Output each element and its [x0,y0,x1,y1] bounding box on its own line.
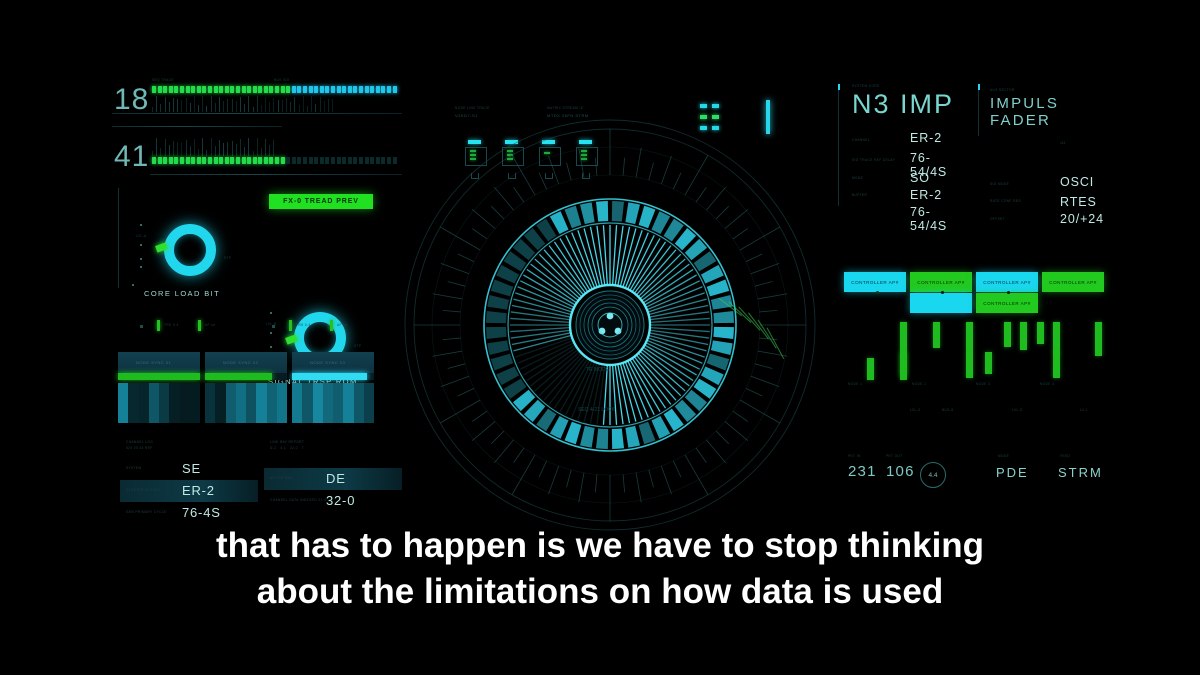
led-segment [174,86,178,93]
tick-mark [165,139,166,156]
led-segment [387,157,391,164]
led-segment [303,86,307,93]
tick-mark [269,145,270,156]
led-segment [292,157,296,164]
led-segment [381,157,385,164]
tick-mark [202,96,203,112]
readout-left: CHANNEL LOG IDX 20 44 REF SYSTEM SE CLUS… [120,438,258,516]
tick-mark [265,139,266,156]
tick-mark [236,144,237,156]
led-segment [337,157,341,164]
status-value-0: 231 [848,463,877,480]
tick-mark [173,141,174,156]
led-segment [337,86,341,93]
led-segment [197,157,201,164]
knob-section: FX-0 TREAD PREV LVL-A STP CORE LOAD BIT [112,188,402,300]
knob-core-load-bit[interactable]: LVL-A STP CORE LOAD BIT [130,214,250,302]
led-segment [309,157,313,164]
tick-mark [253,107,254,112]
led-segment [292,86,296,93]
tick-mark [177,99,178,112]
led-segment [269,157,273,164]
module-n3-imp: SYSTEM CORE N3 IMP CHANNEL ER-2 SIG TRAC… [852,84,954,222]
led-segment [325,157,329,164]
led-segment [353,157,357,164]
spectrum-band [246,383,256,423]
led-segment [169,86,173,93]
led-segment [314,86,318,93]
tick-mark [320,97,321,112]
led-segment [269,86,273,93]
led-segment [186,157,190,164]
led-segment [242,86,246,93]
led-segment [365,157,369,164]
led-segment [219,86,223,93]
led-segment [381,86,385,93]
spectrum-band [226,383,236,423]
led-segment [158,157,162,164]
led-segment [186,86,190,93]
subtitle-block: that has to happen is we have to stop th… [0,523,1200,615]
bar-graph-bar [933,322,940,348]
led-segment [191,157,195,164]
meter-18-ticks [152,96,333,112]
tick-mark [315,104,316,113]
tick-mark [303,96,304,112]
status-bar: PKT IN PKT OUT MODE FEED 231 106 4.4 PDE… [838,460,1118,496]
led-segment [264,157,268,164]
knob-core-load-bit-label: CORE LOAD BIT [144,289,220,298]
led-segment [370,86,374,93]
meter-card-2-bar [205,373,287,380]
readout-left-row-1-label: CLUSTER ACCESS [126,488,160,492]
spectrum-band [139,383,149,423]
led-segment [225,86,229,93]
led-segment [191,86,195,93]
led-segment [359,157,363,164]
led-segment [348,86,352,93]
readout-left-row-2-value: 76-4S [182,505,221,520]
meter-41-leds [152,157,397,164]
tick-mark [223,101,224,112]
led-segment [365,86,369,93]
tick-mark [282,100,283,112]
readout-left-row-2-label: GEN PRIMARY CYCLE [126,510,167,514]
readout-right-row-0-label: ACTIVE BAY [270,476,293,480]
tick-mark [202,138,203,156]
tick-mark [240,97,241,112]
tick-mark [273,140,274,156]
tick-mark [248,96,249,112]
tick-mark [152,151,153,156]
led-segment [353,86,357,93]
spectrum-band [236,383,246,423]
spectrum-band [364,383,374,423]
tick-mark [160,148,161,156]
bar-graph-bar [1037,322,1044,344]
readout-left-row-1-value: ER-2 [182,483,215,498]
spectrum-band [169,383,179,423]
meter-cards: NODE SYNC 01 NODE SYNC 02 NODE SYNC 03 [112,352,402,422]
meter-card-2[interactable]: NODE SYNC 02 [205,352,287,423]
tick-mark [324,101,325,112]
tick-mark [248,138,249,156]
led-segment [281,86,285,93]
bar-graph-bar [867,358,874,380]
led-segment [275,157,279,164]
module-b-title: IMPULS FADER [990,95,1120,129]
led-segment [393,157,397,164]
tick-mark [152,107,153,112]
led-segment [180,157,184,164]
bar-graph-bar [985,352,992,374]
led-segment [281,157,285,164]
bar-graph-bar [900,352,907,376]
tick-mark [244,147,245,156]
module-b-row-2-label: OFFSET [990,217,1005,221]
module-b-row-0-label: SIG MODE [990,182,1009,186]
meter-18: SEQ TRACE BUS IDX 18 [112,80,402,126]
led-segment [309,86,313,93]
tick-mark [186,140,187,156]
meter-41: 41 [112,126,402,182]
led-segment [370,157,374,164]
led-segment [342,157,346,164]
tick-mark [269,102,270,112]
spectrum-band [159,383,169,423]
led-segment [247,157,251,164]
spectrum-band [149,383,159,423]
tick-mark [286,98,287,112]
meter-card-3-spectrum [292,383,374,423]
fx-tread-prev-button[interactable]: FX-0 TREAD PREV [269,194,373,209]
tick-mark [265,97,266,112]
led-segment [331,157,335,164]
spectrum-band [323,383,333,423]
led-segment [169,157,173,164]
tick-mark [177,142,178,156]
tick-mark [194,139,195,157]
led-segment [286,86,290,93]
led-segment [214,157,218,164]
led-segment [320,157,324,164]
tick-mark [211,96,212,112]
tick-mark [215,146,216,156]
bar-graph-bar [1095,322,1102,356]
tick-mark [257,138,258,156]
tick-mark [278,100,279,112]
led-segment [158,86,162,93]
module-a-row-3-label: BUFFER [852,193,867,197]
tick-mark [244,104,245,112]
led-segment [236,86,240,93]
module-a-row-2-value: SO [910,171,930,185]
tick-mark [173,98,174,112]
led-segment [202,86,206,93]
bar-fill [118,373,200,380]
radial-scanner-svg: TR MODESEQ 4-21 LOCK [400,115,820,535]
tick-mark [215,103,216,112]
led-segment [376,86,380,93]
tick-mark [181,100,182,112]
svg-text:TR MODE: TR MODE [586,367,610,373]
bar-graph-bar [966,352,973,378]
spectrum-band [343,383,353,423]
module-impuls-fader: AUX SECTOR IMPULS FADER /44 SIG MODE OSC… [990,88,1120,229]
radial-scanner[interactable]: TR MODESEQ 4-21 LOCK [400,115,820,535]
module-a-row-4-value: 76-54/4S [910,205,954,233]
module-a-row-0-value: ER-2 [910,131,942,145]
vertical-bar-graph [844,320,1112,380]
led-segment [331,86,335,93]
tick-mark [261,148,262,156]
spectrum-band [180,383,190,423]
bar-graph-bar [966,322,973,352]
module-a-row-3-value: ER-2 [910,188,942,202]
tick-mark [299,105,300,112]
tick-mark [223,143,224,156]
tick-mark [194,96,195,112]
led-segment [230,157,234,164]
led-segment [225,157,229,164]
led-segment [342,86,346,93]
led-segment [174,157,178,164]
controller-button-grid: CONTROLLER AP# CONTROLLER AP# CONTROLLER… [844,272,1112,318]
svg-text:SEQ 4-21 LOCK: SEQ 4-21 LOCK [578,407,616,413]
led-segment [387,86,391,93]
tick-mark [219,97,220,112]
module-b-row-0-value: OSCI [1060,175,1094,189]
right-panel: SYSTEM CORE N3 IMP CHANNEL ER-2 SIG TRAC… [830,82,1120,512]
module-b-eyebrow: AUX SECTOR [990,88,1120,92]
controller-button-5[interactable]: CONTROLLER AP# [976,293,1038,313]
led-segment [314,157,318,164]
tick-mark [294,97,295,112]
tick-markers-row: TRX 0.4 AF-ce TRX 0.4 AF-ce [112,320,402,336]
module-a-row-2-label: MODE [852,176,863,180]
tick-mark [181,143,182,156]
meter-card-2-spectrum [205,383,287,423]
led-segment [214,86,218,93]
controller-button-3[interactable]: CONTROLLER AP# [1042,272,1104,292]
tick-mark [311,96,312,112]
spectrum-band [354,383,364,423]
controller-button-1[interactable]: CONTROLLER AP# [910,272,972,292]
bar-fill [292,373,367,380]
tick-mark [219,140,220,156]
led-segment [163,86,167,93]
bar-graph-bar [1020,322,1027,350]
spectrum-band [302,383,312,423]
status-word-0[interactable]: PDE [996,465,1029,480]
tick-mark [156,138,157,156]
led-segment [297,157,301,164]
tick-mark [206,150,207,156]
meter-41-ticks [152,140,274,156]
status-word-1[interactable]: STRM [1058,465,1103,480]
module-b-row-1-label: RATE CONF REG [990,199,1021,203]
tick-mark [227,142,228,157]
meter-card-1-bar [118,373,200,380]
led-segment [163,157,167,164]
led-segment [348,157,352,164]
tick-mark [227,99,228,112]
hud-screen: SEQ TRACE BUS IDX 18 41 FX-0 TREAD PREV [0,0,1200,675]
tick-mark [160,104,161,112]
tick-mark [232,99,233,113]
tick-mark [190,146,191,156]
module-b-row-2-value: 20/+24 [1060,212,1104,226]
subtitle-line-1: that has to happen is we have to stop th… [0,523,1200,569]
status-gauge[interactable]: 4.4 [920,462,946,488]
meter-18-value: 18 [114,83,149,117]
led-segment [264,86,268,93]
led-segment [208,86,212,93]
led-segment [258,86,262,93]
led-segment [303,157,307,164]
tick-mark [328,99,329,112]
tick-mark [261,105,262,112]
spectrum-band [313,383,323,423]
tick-mark [198,149,199,156]
tick-mark [257,96,258,112]
spectrum-band [215,383,225,423]
led-segment [297,86,301,93]
tick-mark [240,139,241,156]
led-segment [258,157,262,164]
readout-right-row-1-value: 32-0 [326,493,355,508]
bar-graph-axis: NODE 1 NODE 2 NODE 3 NODE 4 LVL-3 BUS-8 … [844,382,1112,432]
meter-card-1-spectrum [118,383,200,423]
led-segment [320,86,324,93]
tick-mark [290,102,291,112]
controller-button-0[interactable]: CONTROLLER AP# [844,272,906,292]
module-a-row-0-label: CHANNEL [852,138,870,142]
led-segment [202,157,206,164]
spectrum-band [277,383,287,423]
tick-mark [198,105,199,112]
subtitle-line-2: about the limitations on how data is use… [0,569,1200,615]
tick-mark [332,99,333,112]
led-segment [286,157,290,164]
led-segment [152,157,156,164]
controller-button-4[interactable] [910,293,972,313]
tick-mark [236,101,237,112]
spectrum-band [267,383,277,423]
spectrum-band [128,383,138,423]
left-panel: SEQ TRACE BUS IDX 18 41 FX-0 TREAD PREV [112,80,402,520]
led-segment [393,86,397,93]
led-segment [275,86,279,93]
meter-card-3[interactable]: NODE SYNC 03 [292,352,374,423]
led-segment [253,157,257,164]
tick-mark [165,97,166,112]
led-segment [359,86,363,93]
module-a-row-1-label: SIG TRACE REF DELAY [852,158,895,162]
module-b-note: /44 [1060,141,1120,145]
led-segment [253,86,257,93]
bar-graph-bar [1053,322,1060,354]
bar-graph-bar [1053,352,1060,378]
tick-mark [232,141,233,156]
meter-18-leds [152,86,397,93]
meter-card-3-bar [292,373,374,380]
tick-mark [206,106,207,112]
bar-fill [205,373,272,380]
readout-right-row-0-value: DE [326,471,346,486]
led-segment [208,157,212,164]
tick-mark [307,106,308,112]
led-segment [152,86,156,93]
status-value-1: 106 [886,463,915,480]
led-segment [236,157,240,164]
led-segment [242,157,246,164]
spectrum-band [190,383,200,423]
meter-card-1[interactable]: NODE SYNC 01 [118,352,200,423]
tick-mark [186,98,187,113]
led-segment [197,86,201,93]
spectrum-band [205,383,215,423]
spectrum-band [118,383,128,423]
module-a-title: N3 IMP [852,89,954,120]
led-segment [180,86,184,93]
tick-mark [211,138,212,156]
bar-graph-bar [1004,322,1011,347]
led-segment [219,157,223,164]
meter-41-value: 41 [114,140,149,174]
led-segment [376,157,380,164]
spectrum-band [256,383,266,423]
tick-mark [273,98,274,112]
tick-mark [169,102,170,112]
readout-left-row-0-value: SE [182,461,201,476]
tick-mark [253,151,254,157]
led-segment [230,86,234,93]
controller-button-2[interactable]: CONTROLLER AP# [976,272,1038,292]
tick-mark [169,145,170,156]
tick-mark [156,96,157,112]
module-b-row-1-value: RTES [1060,195,1097,209]
readout-right: LINK BAY REPORT D-2 4-1 22-0 7 ACTIVE BA… [264,438,402,516]
module-a-eyebrow: SYSTEM CORE [852,84,954,88]
tick-mark [190,103,191,112]
readout-left-row-0-label: SYSTEM [126,466,142,470]
led-segment [325,86,329,93]
spectrum-band [333,383,343,423]
readout-right-row-1-label: CHANNEL DATA INDEXED 21-4 [270,498,326,502]
spectrum-band [292,383,302,423]
led-segment [247,86,251,93]
